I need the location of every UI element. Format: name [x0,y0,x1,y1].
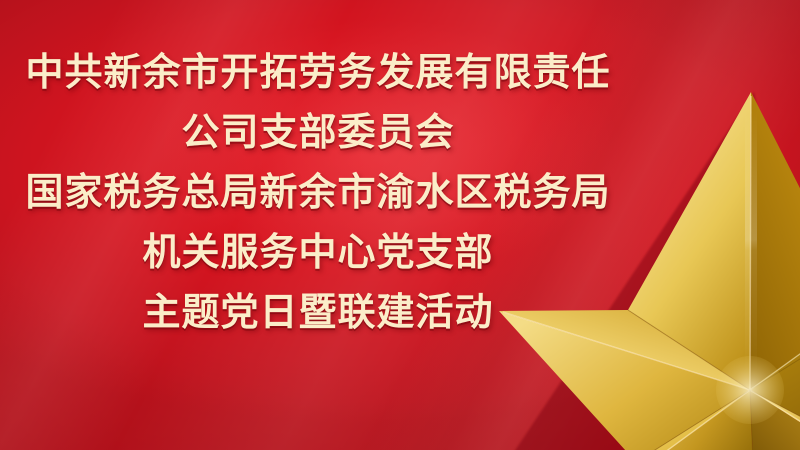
banner-backdrop: 中共新余市开拓劳务发展有限责任 公司支部委员会 国家税务总局新余市渝水区税务局 … [0,0,800,450]
banner-title-block: 中共新余市开拓劳务发展有限责任 公司支部委员会 国家税务总局新余市渝水区税务局 … [0,42,636,342]
title-line-5: 主题党日暨联建活动 [142,282,493,342]
title-line-2: 公司支部委员会 [181,102,454,162]
title-line-1: 中共新余市开拓劳务发展有限责任 [25,42,610,102]
title-line-4: 机关服务中心党支部 [142,222,493,282]
title-line-3: 国家税务总局新余市渝水区税务局 [25,162,610,222]
